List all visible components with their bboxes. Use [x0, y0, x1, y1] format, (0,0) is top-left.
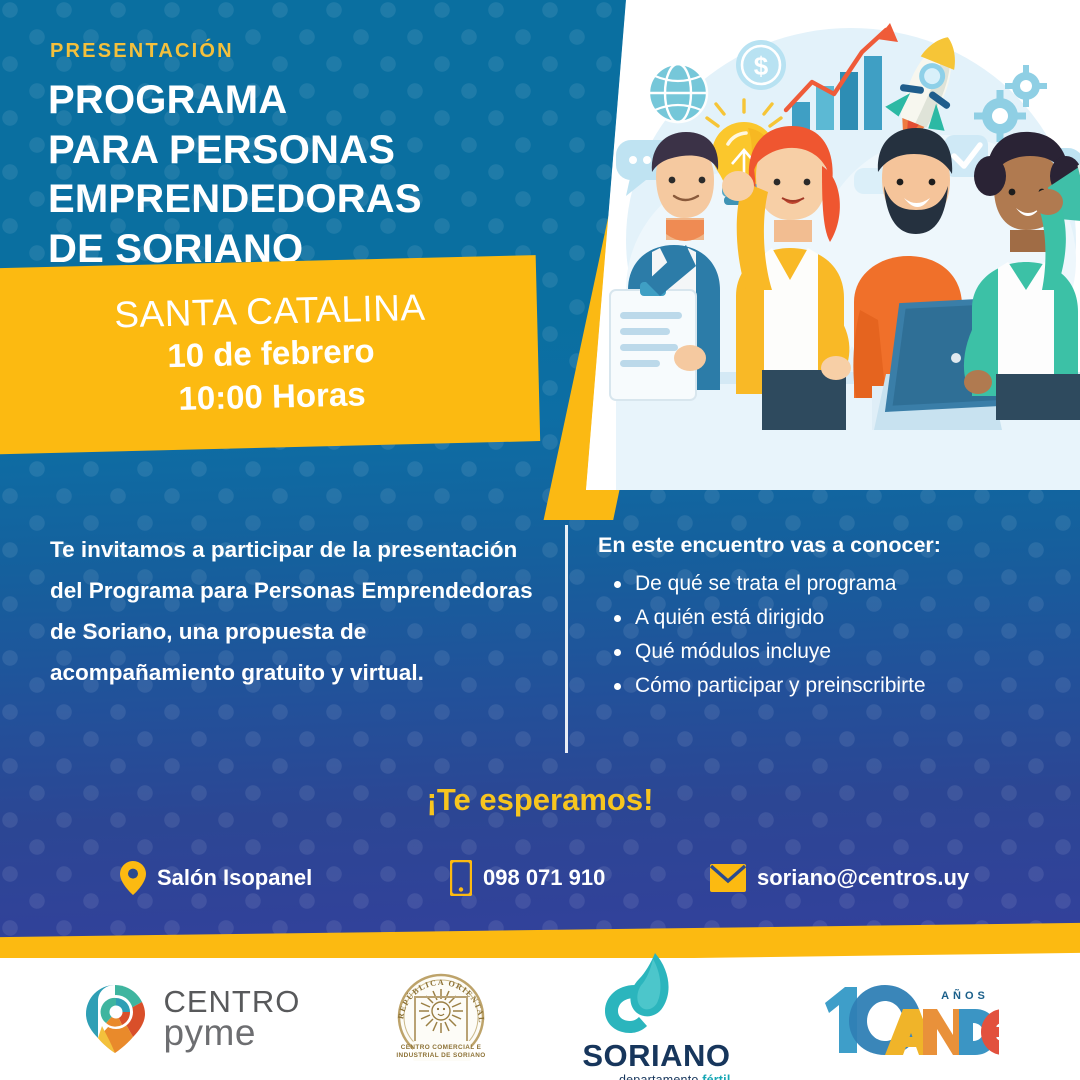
contact-location-text: Salón Isopanel	[157, 865, 312, 891]
column-divider	[565, 525, 568, 753]
event-date: 10 de febrero	[167, 330, 375, 378]
soriano-wordmark: SORIANO	[582, 1040, 730, 1071]
soriano-tagline-b: fértil	[702, 1073, 730, 1080]
ande-anniversary-icon: AÑOS	[819, 977, 999, 1061]
agenda-column: En este encuentro vas a conocer: De qué …	[598, 533, 1038, 703]
soriano-tagline: departamento fértil	[582, 1073, 730, 1080]
contact-email-text: soriano@centros.uy	[757, 865, 969, 891]
centro-pyme-pin-icon	[80, 981, 150, 1057]
map-pin-icon	[120, 861, 146, 895]
agenda-list: De qué se trata el programa A quién está…	[598, 567, 1038, 703]
contact-location: Salón Isopanel	[120, 861, 450, 895]
globe-icon	[649, 64, 707, 122]
event-place: SANTA CATALINA	[114, 287, 426, 336]
seal-line1: CENTRO COMERCIAL E	[401, 1044, 482, 1051]
contact-phone-text: 098 071 910	[483, 865, 605, 891]
centro-comercial-industrial-soriano-seal: REPÚBLICA ORIENTAL DEL URUGUAY	[389, 967, 493, 1071]
call-to-action: ¡Te esperamos!	[0, 782, 1080, 818]
event-time: 10:00 Horas	[178, 373, 366, 420]
list-item: Qué módulos incluye	[598, 635, 1038, 669]
dollar-coin-icon: $	[736, 40, 786, 90]
mobile-phone-icon	[450, 860, 472, 896]
centro-pyme-line2: pyme	[163, 1016, 300, 1050]
envelope-icon	[710, 864, 746, 892]
soriano-tagline-a: departamento	[619, 1073, 702, 1080]
event-details-content: SANTA CATALINA 10 de febrero 10:00 Horas	[0, 255, 540, 455]
soriano-leaf-icon	[591, 951, 721, 1035]
kicker-label: PRESENTACIÓN	[50, 40, 234, 63]
contact-row: Salón Isopanel 098 071 910 soriano@centr…	[120, 860, 980, 896]
centro-pyme-logo: CENTRO pyme	[80, 981, 300, 1057]
ande-10-anos-logo: AÑOS	[819, 977, 999, 1061]
intro-paragraph: Te invitamos a participar de la presenta…	[50, 530, 550, 694]
person-lightbulb	[722, 126, 851, 430]
contact-phone: 098 071 910	[450, 860, 710, 896]
agenda-heading: En este encuentro vas a conocer:	[598, 533, 1038, 558]
title-line-2: PARA PERSONAS	[48, 126, 528, 176]
title-line-3: EMPRENDEDORAS	[48, 175, 528, 225]
title-line-1: PROGRAMA	[48, 76, 528, 126]
soriano-departamento-fertil-logo: SORIANO departamento fértil	[582, 951, 730, 1080]
list-item: De qué se trata el programa	[598, 567, 1038, 601]
page-title: PROGRAMA PARA PERSONAS EMPRENDEDORAS DE …	[48, 76, 528, 274]
contact-email: soriano@centros.uy	[710, 864, 969, 892]
list-item: Cómo participar y preinscribirte	[598, 669, 1038, 703]
uruguay-seal-icon: REPÚBLICA ORIENTAL DEL URUGUAY	[389, 967, 493, 1071]
footer-logo-strip: CENTRO pyme REPÚBLICA ORIENTAL DEL URUGU…	[0, 958, 1080, 1080]
illustration: $	[586, 0, 1080, 490]
ande-anos-label: AÑOS	[942, 989, 990, 1002]
list-item: A quién está dirigido	[598, 601, 1038, 635]
svg-text:$: $	[754, 51, 769, 81]
illustration-panel: $	[586, 0, 1080, 490]
event-flyer: $	[0, 0, 1080, 1080]
entrepreneurs-illustration-svg: $	[586, 0, 1080, 490]
seal-line2: INDUSTRIAL DE SORIANO	[397, 1052, 486, 1059]
